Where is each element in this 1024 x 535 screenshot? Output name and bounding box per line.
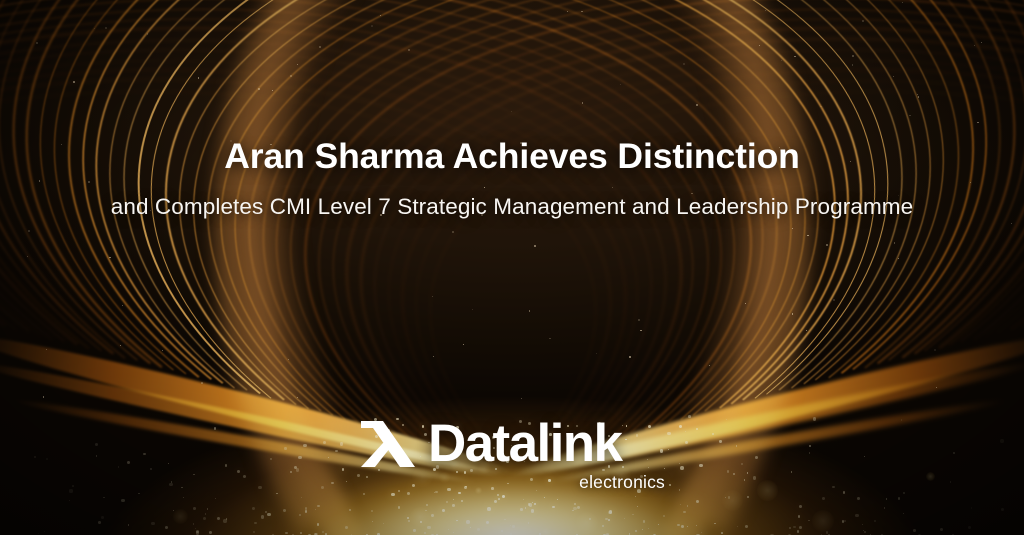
brand-logo: Datalink electronics: [359, 418, 665, 493]
datalink-lambda-mark-icon: [359, 418, 417, 470]
banner-content: Aran Sharma Achieves Distinction and Com…: [0, 0, 1024, 535]
logo-wordmark: Datalink: [428, 420, 621, 468]
subheadline: and Completes CMI Level 7 Strategic Mana…: [0, 192, 1024, 221]
promo-banner: Aran Sharma Achieves Distinction and Com…: [0, 0, 1024, 535]
logo-tagline: electronics: [359, 472, 665, 493]
logo-primary-row: Datalink: [359, 418, 665, 470]
headline: Aran Sharma Achieves Distinction: [0, 136, 1024, 177]
